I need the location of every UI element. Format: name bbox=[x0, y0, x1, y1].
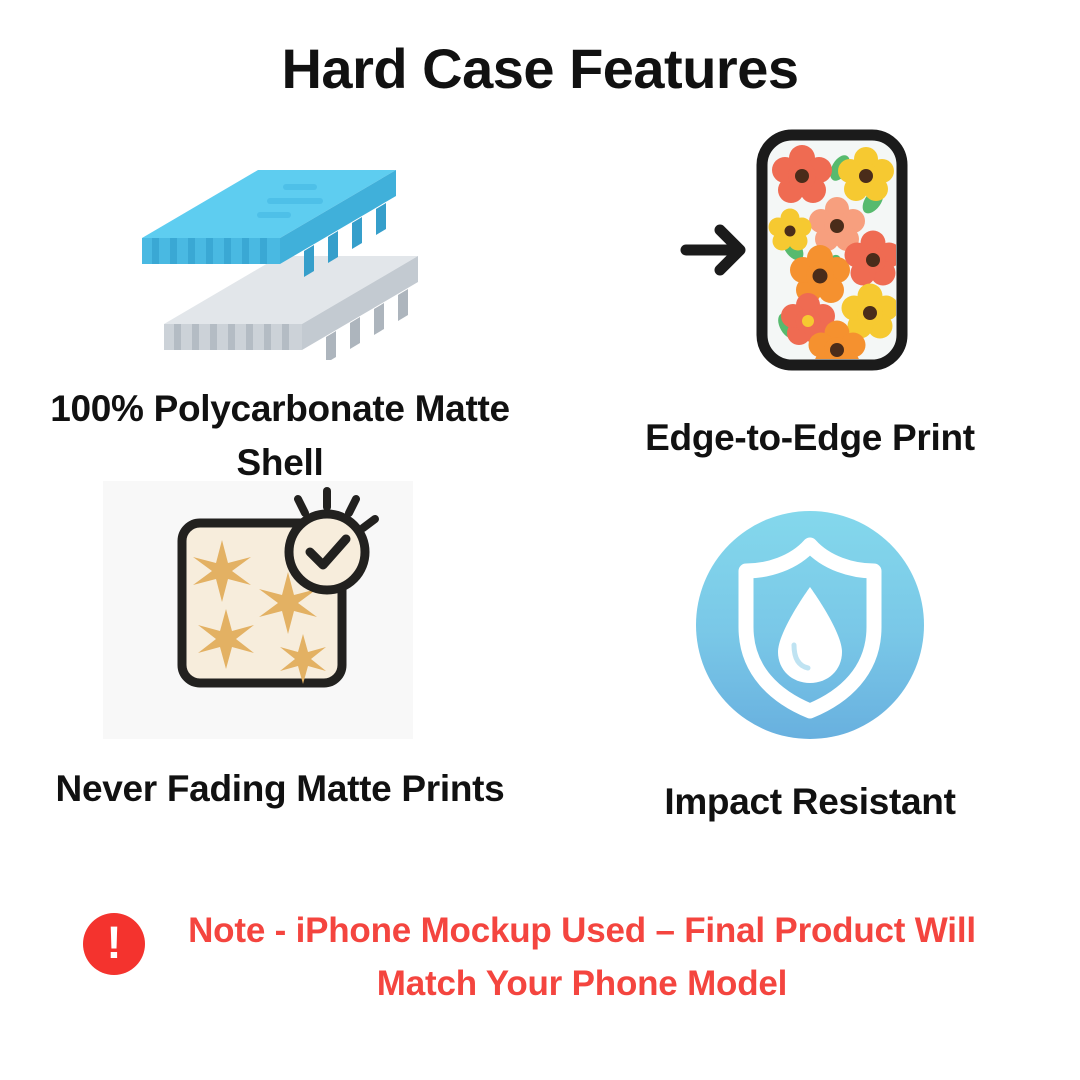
page-title: Hard Case Features bbox=[0, 38, 1080, 100]
note-banner: ! Note - iPhone Mockup Used – Final Prod… bbox=[0, 905, 1080, 1010]
feature-edge-print-art bbox=[560, 128, 1060, 373]
feature-never-fading-art bbox=[20, 470, 540, 742]
feature-infographic: Hard Case Features bbox=[0, 0, 1080, 1080]
exclamation-badge-icon: ! bbox=[83, 913, 145, 975]
feature-impact: Impact Resistant bbox=[560, 505, 1060, 829]
sparkle-card-check-icon bbox=[160, 481, 400, 731]
feature-never-fading-label: Never Fading Matte Prints bbox=[20, 762, 540, 816]
feature-never-fading: Never Fading Matte Prints bbox=[20, 470, 540, 816]
feature-impact-label: Impact Resistant bbox=[560, 775, 1060, 829]
exclamation-mark: ! bbox=[107, 920, 122, 965]
feature-polycarbonate-art bbox=[20, 160, 540, 360]
feature-impact-art bbox=[560, 505, 1060, 745]
shield-droplet-icon bbox=[694, 509, 926, 741]
feature-edge-print-label: Edge-to-Edge Print bbox=[560, 411, 1060, 465]
layered-slabs-icon bbox=[130, 160, 430, 360]
phone-floral-print-icon bbox=[680, 128, 940, 373]
note-text: Note - iPhone Mockup Used – Final Produc… bbox=[167, 905, 997, 1010]
feature-edge-print: Edge-to-Edge Print bbox=[560, 128, 1060, 465]
feature-polycarbonate: 100% Polycarbonate Matte Shell bbox=[20, 160, 540, 489]
arrow-right-icon bbox=[686, 230, 740, 270]
